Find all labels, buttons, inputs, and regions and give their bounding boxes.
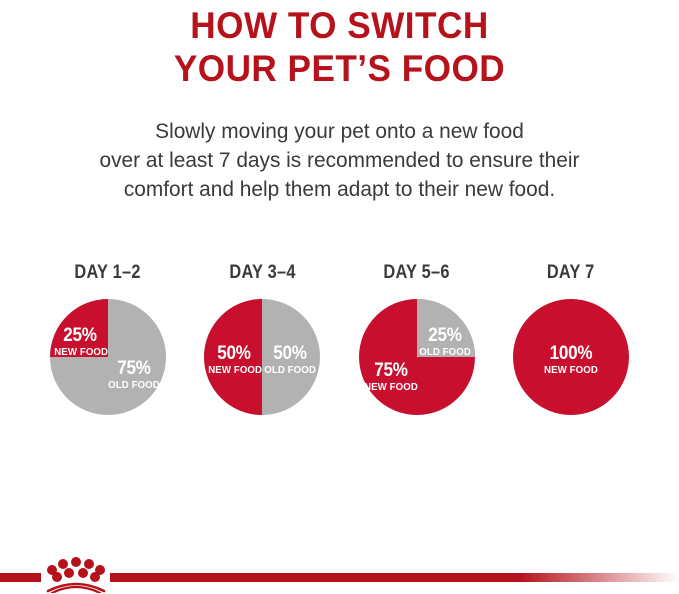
- pie-graphic-4: 100% NEW FOOD: [513, 299, 629, 415]
- pie-slice-new-food-4: [513, 299, 629, 415]
- pie-svg-4: [513, 299, 629, 415]
- day-label-3: DAY 5–6: [383, 262, 449, 284]
- pie-chart-day-3-4: DAY 3–4 50% NEW FOOD 50% OLD FOOD: [188, 262, 336, 437]
- intro-line-1: Slowly moving your pet onto a new food: [10, 117, 669, 146]
- royal-canin-crown-icon: [42, 555, 110, 593]
- footer-rule-left: [0, 573, 41, 582]
- day-label-4: DAY 7: [547, 262, 595, 284]
- pie-graphic-1: 25% NEW FOOD 75% OLD FOOD: [50, 299, 166, 415]
- day-label-1: DAY 1–2: [75, 262, 141, 284]
- page-title: HOW TO SWITCH YOUR PET’S FOOD: [0, 4, 679, 90]
- pie-svg-3: [359, 299, 475, 415]
- pie-svg-2: [204, 299, 320, 415]
- pie-graphic-3: 25% OLD FOOD 75% NEW FOOD: [359, 299, 475, 415]
- page-title-line-1: HOW TO SWITCH: [17, 4, 662, 47]
- footer-rule-right: [110, 573, 679, 582]
- footer: [0, 552, 679, 594]
- intro-line-3: comfort and help them adapt to their new…: [10, 175, 669, 204]
- pie-chart-row: DAY 1–2 25% NEW FOOD 75% OLD FOOD DAY 3–…: [0, 262, 679, 437]
- intro-paragraph: Slowly moving your pet onto a new food o…: [0, 117, 679, 204]
- pie-slice-old-food-3: [417, 299, 475, 357]
- pie-chart-day-7: DAY 7 100% NEW FOOD: [497, 262, 645, 437]
- intro-line-2: over at least 7 days is recommended to e…: [10, 146, 669, 175]
- page-title-line-2: YOUR PET’S FOOD: [17, 47, 662, 90]
- day-label-2: DAY 3–4: [229, 262, 295, 284]
- pie-graphic-2: 50% NEW FOOD 50% OLD FOOD: [204, 299, 320, 415]
- pie-chart-day-5-6: DAY 5–6 25% OLD FOOD 75% NEW FOOD: [343, 262, 491, 437]
- pie-slice-new-food-1: [50, 299, 108, 357]
- pie-chart-day-1-2: DAY 1–2 25% NEW FOOD 75% OLD FOOD: [34, 262, 182, 437]
- pie-slice-new-food-2: [204, 299, 262, 415]
- pie-svg-1: [50, 299, 166, 415]
